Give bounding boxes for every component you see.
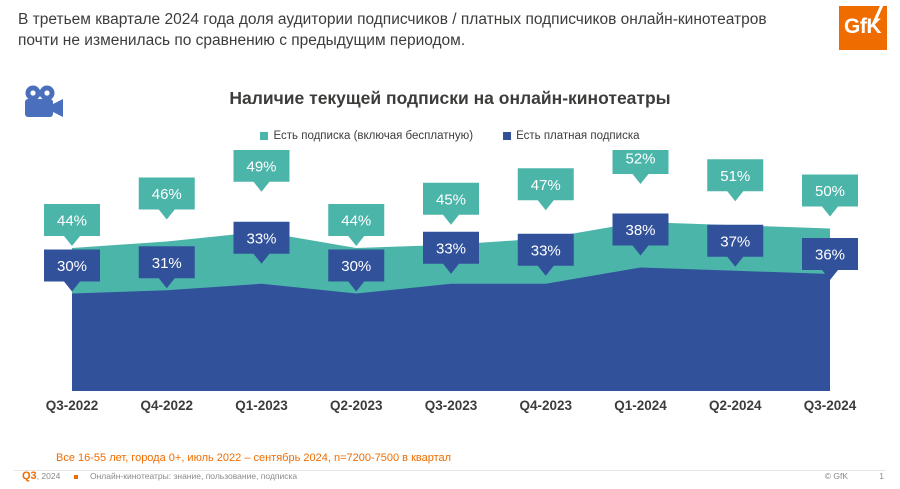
- gfk-logo: GfK: [839, 6, 887, 50]
- area-chart-svg: 44%46%49%44%45%47%52%51%50%30%31%33%30%3…: [0, 150, 900, 395]
- legend-swatch-blue: [503, 132, 511, 140]
- footer-quarter: Q3, 2024: [22, 470, 60, 482]
- x-axis-tick-Q3-2023: Q3-2023: [425, 398, 478, 413]
- data-label-paid-Q4-2023-text: 33%: [531, 242, 561, 259]
- footer-bullet-icon: [74, 475, 78, 479]
- x-axis-tick-Q2-2023: Q2-2023: [330, 398, 383, 413]
- data-label-total-Q2-2023: 44%: [328, 204, 384, 246]
- data-label-total-Q4-2022: 46%: [139, 178, 195, 220]
- x-axis-tick-Q3-2022: Q3-2022: [46, 398, 99, 413]
- footer-quarter-label: Q3: [22, 470, 37, 482]
- headline-text: В третьем квартале 2024 года доля аудито…: [18, 9, 778, 51]
- footer-copyright: © GfK: [825, 471, 848, 481]
- data-label-total-Q1-2024: 52%: [613, 150, 669, 184]
- base-note: Все 16-55 лет, города 0+, июль 2022 – се…: [56, 452, 451, 464]
- data-label-paid-Q3-2024-text: 36%: [815, 247, 845, 264]
- data-label-total-Q4-2023-text: 47%: [531, 177, 561, 194]
- data-label-total-Q3-2022: 44%: [44, 204, 100, 246]
- data-label-total-Q2-2024-text: 51%: [720, 168, 750, 185]
- data-label-paid-Q3-2023-text: 33%: [436, 240, 466, 257]
- data-label-total-Q3-2024-text: 50%: [815, 183, 845, 200]
- data-label-total-Q3-2023-text: 45%: [436, 191, 466, 208]
- x-axis-tick-Q2-2024: Q2-2024: [709, 398, 762, 413]
- legend-label-total-subscription: Есть подписка (включая бесплатную): [273, 130, 473, 142]
- legend-label-paid-subscription: Есть платная подписка: [516, 130, 639, 142]
- data-label-total-Q1-2024-text: 52%: [625, 151, 655, 168]
- data-label-total-Q3-2024: 50%: [802, 175, 858, 217]
- legend-item-total-subscription: Есть подписка (включая бесплатную): [260, 130, 473, 142]
- legend-swatch-teal: [260, 132, 268, 140]
- chart-title: Наличие текущей подписки на онлайн-кинот…: [0, 88, 900, 109]
- data-label-paid-Q1-2023-text: 33%: [246, 230, 276, 247]
- x-axis-tick-Q3-2024: Q3-2024: [804, 398, 857, 413]
- data-label-total-Q2-2023-text: 44%: [341, 213, 371, 230]
- x-axis-tick-Q1-2023: Q1-2023: [235, 398, 288, 413]
- footer-topic: Онлайн-кинотеатры: знание, пользование, …: [90, 471, 297, 481]
- data-label-total-Q3-2023: 45%: [423, 183, 479, 225]
- page-footer: Q3, 2024 Онлайн-кинотеатры: знание, поль…: [0, 468, 900, 489]
- data-label-total-Q4-2023: 47%: [518, 168, 574, 210]
- footer-page-number: 1: [879, 471, 884, 481]
- x-axis-tick-Q1-2024: Q1-2024: [614, 398, 667, 413]
- legend-item-paid-subscription: Есть платная подписка: [503, 130, 639, 142]
- chart-plot-area: 44%46%49%44%45%47%52%51%50%30%31%33%30%3…: [0, 150, 900, 395]
- data-label-paid-Q2-2024-text: 37%: [720, 233, 750, 250]
- data-label-total-Q3-2022-text: 44%: [57, 213, 87, 230]
- data-label-total-Q1-2023: 49%: [234, 150, 290, 192]
- x-axis-tick-Q4-2023: Q4-2023: [519, 398, 572, 413]
- page-header: В третьем квартале 2024 года доля аудито…: [0, 0, 900, 62]
- data-label-total-Q2-2024: 51%: [707, 159, 763, 201]
- data-label-total-Q1-2023-text: 49%: [246, 158, 276, 175]
- data-label-paid-Q4-2022-text: 31%: [152, 255, 182, 272]
- data-label-paid-Q2-2023-text: 30%: [341, 258, 371, 275]
- data-label-paid-Q1-2024-text: 38%: [625, 222, 655, 239]
- footer-year-label: , 2024: [37, 471, 61, 481]
- x-axis-tick-Q4-2022: Q4-2022: [140, 398, 193, 413]
- x-axis: Q3-2022Q4-2022Q1-2023Q2-2023Q3-2023Q4-20…: [0, 398, 900, 420]
- chart-legend: Есть подписка (включая бесплатную) Есть …: [0, 130, 900, 142]
- data-label-total-Q4-2022-text: 46%: [152, 186, 182, 203]
- data-label-paid-Q3-2022-text: 30%: [57, 258, 87, 275]
